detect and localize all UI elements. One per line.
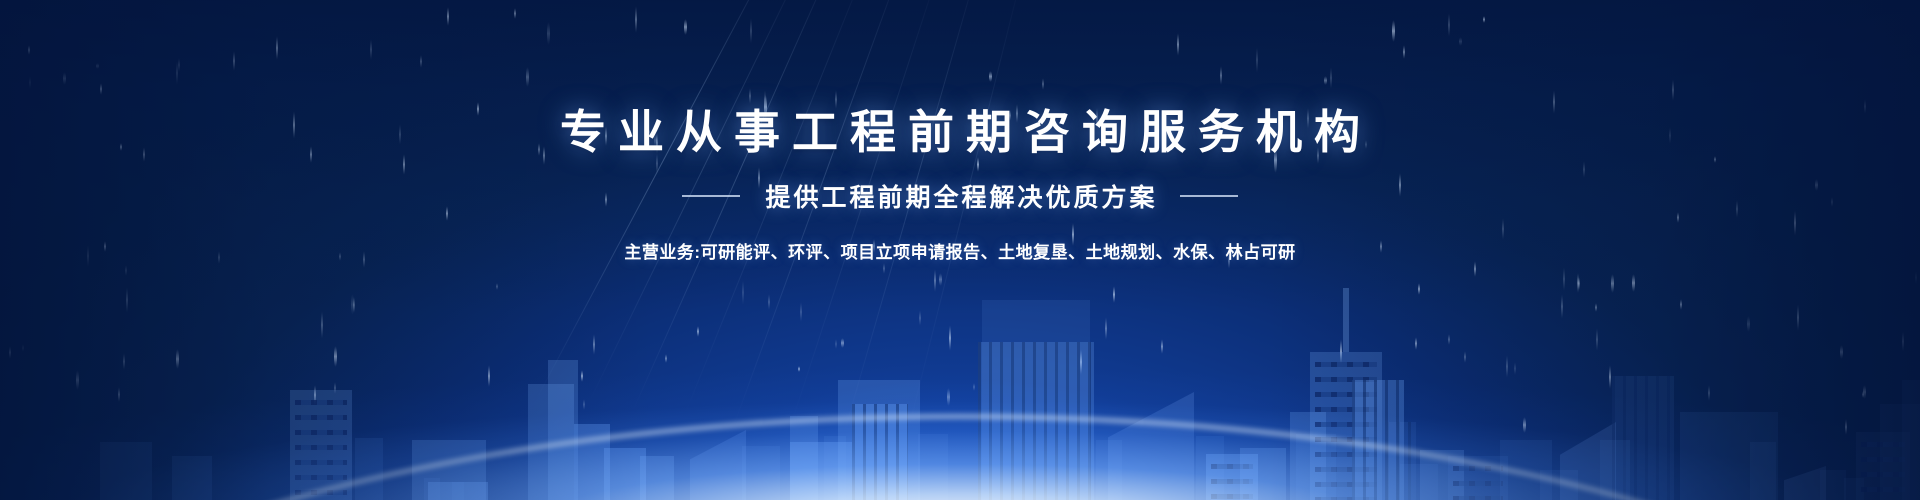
skyline-building [1296, 434, 1336, 500]
skyline-building [1108, 392, 1194, 500]
building-spire [1343, 288, 1349, 352]
skyline-building [1400, 464, 1438, 500]
skyline-building [982, 300, 1090, 500]
skyline-building [1352, 380, 1404, 500]
skyline-building [355, 438, 383, 500]
building-window-stripes [1352, 380, 1404, 500]
skyline-building [690, 430, 746, 500]
skyline-building [1902, 380, 1920, 500]
banner-title: 专业从事工程前期咨询服务机构 [0, 108, 1920, 158]
skyline-building [100, 442, 152, 500]
skyline-building [1240, 448, 1286, 500]
skyline-building [172, 456, 212, 500]
building-window-grid [295, 400, 347, 500]
banner-content: 专业从事工程前期咨询服务机构 提供工程前期全程解决优质方案 主营业务:可研能评、… [0, 108, 1920, 263]
banner-services-line: 主营业务:可研能评、环评、项目立项申请报告、土地复垦、土地规划、水保、林占可研 [0, 238, 1920, 263]
left-dash-decoration [682, 195, 740, 197]
banner-subtitle: 提供工程前期全程解决优质方案 [762, 178, 1157, 214]
skyline-building [640, 456, 674, 500]
skyline-building [1600, 440, 1630, 500]
skyline-building [1820, 470, 1846, 500]
skyline-building [428, 482, 488, 500]
skyline-building [290, 390, 352, 500]
skyline-building [852, 404, 908, 500]
building-window-grid [1453, 466, 1503, 500]
skyline-building [742, 446, 780, 500]
skyline-building [918, 434, 948, 500]
building-window-stripes [852, 404, 908, 500]
banner-subtitle-row: 提供工程前期全程解决优质方案 [0, 178, 1920, 214]
right-dash-decoration [1180, 195, 1238, 197]
skyline-building [1750, 442, 1776, 500]
hero-banner: 专业从事工程前期咨询服务机构 提供工程前期全程解决优质方案 主营业务:可研能评、… [0, 0, 1920, 500]
skyline-building [1448, 456, 1508, 500]
